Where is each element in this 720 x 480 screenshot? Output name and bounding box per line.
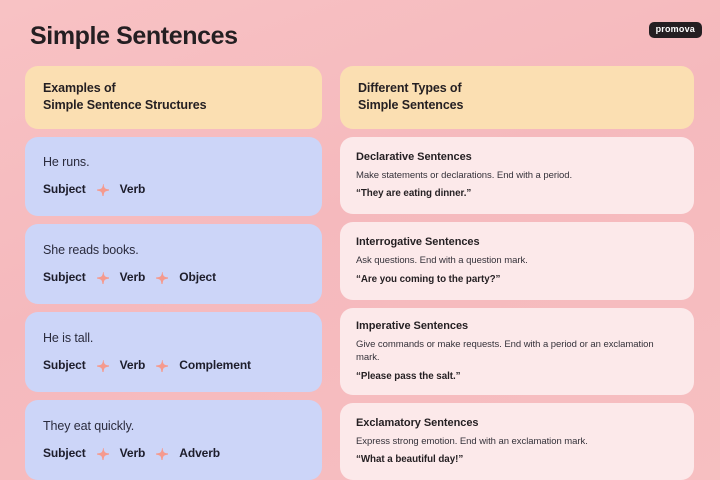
- type-card: Interrogative SentencesAsk questions. En…: [340, 222, 694, 300]
- types-header-line-1: Different Types of: [358, 80, 676, 97]
- structure-example-sentence: He runs.: [43, 155, 304, 169]
- column-sentence-types: Different Types of Simple Sentences Decl…: [340, 66, 694, 480]
- formula-part: Verb: [120, 358, 146, 372]
- formula-part: Subject: [43, 270, 86, 284]
- structures-header-line-1: Examples of: [43, 80, 304, 97]
- types-header-line-2: Simple Sentences: [358, 97, 676, 114]
- plus-icon: [97, 183, 109, 195]
- type-card-title: Imperative Sentences: [356, 320, 678, 332]
- structure-card: He runs.SubjectVerb: [25, 137, 322, 217]
- formula-part: Object: [179, 270, 216, 284]
- type-card-title: Declarative Sentences: [356, 151, 678, 163]
- type-card-title: Exclamatory Sentences: [356, 417, 678, 429]
- type-card-list: Declarative SentencesMake statements or …: [340, 137, 694, 480]
- formula-part: Verb: [120, 270, 146, 284]
- page-header: Simple Sentences promova: [0, 0, 720, 66]
- type-card-example: “Please pass the salt.”: [356, 371, 678, 382]
- structure-formula: SubjectVerbComplement: [43, 358, 304, 372]
- type-card-description: Express strong emotion. End with an excl…: [356, 435, 678, 448]
- structures-header-line-2: Simple Sentence Structures: [43, 97, 304, 114]
- plus-icon: [97, 271, 109, 283]
- type-card-example: “They are eating dinner.”: [356, 188, 678, 199]
- structure-example-sentence: He is tall.: [43, 331, 304, 345]
- type-card-example: “Are you coming to the party?”: [356, 274, 678, 285]
- type-card: Imperative SentencesGive commands or mak…: [340, 308, 694, 395]
- structure-formula: SubjectVerb: [43, 182, 304, 196]
- structure-card: He is tall.SubjectVerbComplement: [25, 312, 322, 392]
- content-columns: Examples of Simple Sentence Structures H…: [0, 66, 720, 480]
- formula-part: Complement: [179, 358, 251, 372]
- formula-part: Subject: [43, 358, 86, 372]
- formula-part: Verb: [120, 446, 146, 460]
- type-card-title: Interrogative Sentences: [356, 236, 678, 248]
- structure-card: She reads books.SubjectVerbObject: [25, 224, 322, 304]
- structure-formula: SubjectVerbObject: [43, 270, 304, 284]
- formula-part: Subject: [43, 446, 86, 460]
- page-title: Simple Sentences: [30, 22, 238, 51]
- type-card-description: Ask questions. End with a question mark.: [356, 254, 678, 267]
- formula-part: Verb: [120, 182, 146, 196]
- plus-icon: [97, 359, 109, 371]
- type-card-description: Give commands or make requests. End with…: [356, 338, 678, 365]
- structure-example-sentence: She reads books.: [43, 243, 304, 257]
- plus-icon: [97, 447, 109, 459]
- column-sentence-structures: Examples of Simple Sentence Structures H…: [25, 66, 322, 480]
- formula-part: Subject: [43, 182, 86, 196]
- infographic-page: Simple Sentences promova Examples of Sim…: [0, 0, 720, 480]
- structure-example-sentence: They eat quickly.: [43, 419, 304, 433]
- plus-icon: [156, 271, 168, 283]
- type-card: Declarative SentencesMake statements or …: [340, 137, 694, 215]
- formula-part: Adverb: [179, 446, 220, 460]
- structures-column-header: Examples of Simple Sentence Structures: [25, 66, 322, 129]
- type-card-example: “What a beautiful day!”: [356, 454, 678, 465]
- structure-card-list: He runs.SubjectVerbShe reads books.Subje…: [25, 137, 322, 480]
- types-column-header: Different Types of Simple Sentences: [340, 66, 694, 129]
- structure-card: They eat quickly.SubjectVerbAdverb: [25, 400, 322, 480]
- promova-logo: promova: [649, 22, 702, 38]
- plus-icon: [156, 447, 168, 459]
- plus-icon: [156, 359, 168, 371]
- type-card-description: Make statements or declarations. End wit…: [356, 169, 678, 182]
- structure-formula: SubjectVerbAdverb: [43, 446, 304, 460]
- type-card: Exclamatory SentencesExpress strong emot…: [340, 403, 694, 480]
